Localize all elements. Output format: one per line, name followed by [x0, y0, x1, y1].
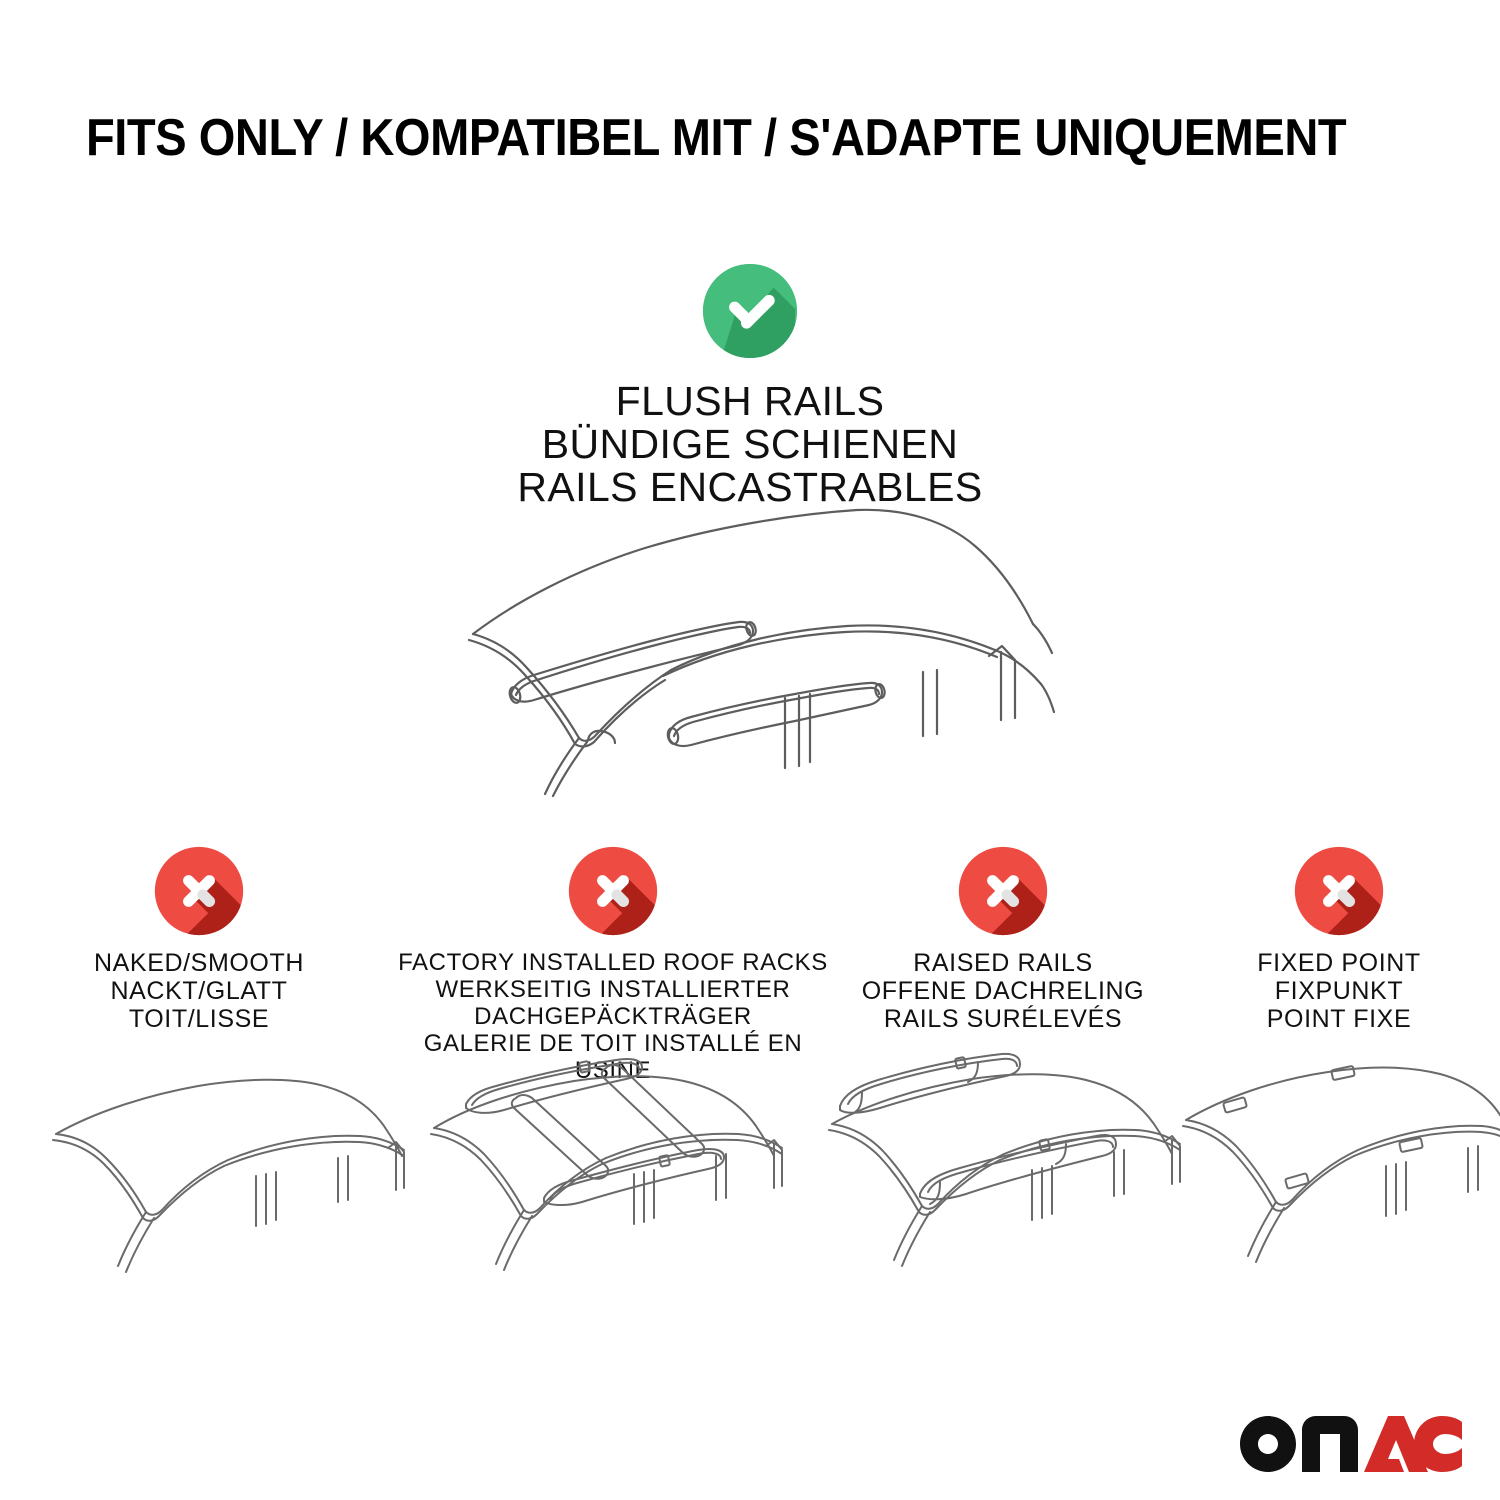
- logo-letter-m: [1302, 1416, 1358, 1472]
- x-circle-icon: [957, 845, 1049, 937]
- x-circle-icon: [1293, 845, 1385, 937]
- page-title: FITS ONLY / KOMPATIBEL MIT / S'ADAPTE UN…: [86, 108, 1299, 168]
- incompatible-item-naked-smooth: NAKED/SMOOTH NACKT/GLATT TOIT/LISSE: [0, 845, 398, 1033]
- car-roof-flush-rails-illustration: [455, 498, 1055, 798]
- car-roof-factory-rack-illustration: [420, 1048, 820, 1298]
- x-circle-icon: [567, 845, 659, 937]
- incompatible-item-raised-rails: RAISED RAILS OFFENE DACHRELING RAILS SUR…: [828, 845, 1178, 1033]
- car-roof-raised-rails-illustration: [818, 1048, 1208, 1298]
- check-circle-icon: [701, 262, 799, 360]
- incompatible-label: FIXED POINT FIXPUNKT POINT FIXE: [1178, 949, 1500, 1033]
- x-circle-icon: [153, 845, 245, 937]
- roof-type-illustrations: [0, 1048, 1500, 1298]
- compatible-title: FLUSH RAILS BÜNDIGE SCHIENEN RAILS ENCAS…: [0, 380, 1500, 509]
- logo-letter-o: [1240, 1416, 1296, 1472]
- car-roof-naked-smooth-illustration: [48, 1048, 423, 1298]
- car-roof-fixed-point-illustration: [1178, 1048, 1500, 1298]
- incompatible-item-fixed-point: FIXED POINT FIXPUNKT POINT FIXE: [1178, 845, 1500, 1033]
- omac-logo: [1236, 1412, 1462, 1474]
- incompatible-label: NAKED/SMOOTH NACKT/GLATT TOIT/LISSE: [0, 949, 398, 1033]
- incompatible-label: RAISED RAILS OFFENE DACHRELING RAILS SUR…: [828, 949, 1178, 1033]
- compatible-section: FLUSH RAILS BÜNDIGE SCHIENEN RAILS ENCAS…: [0, 262, 1500, 509]
